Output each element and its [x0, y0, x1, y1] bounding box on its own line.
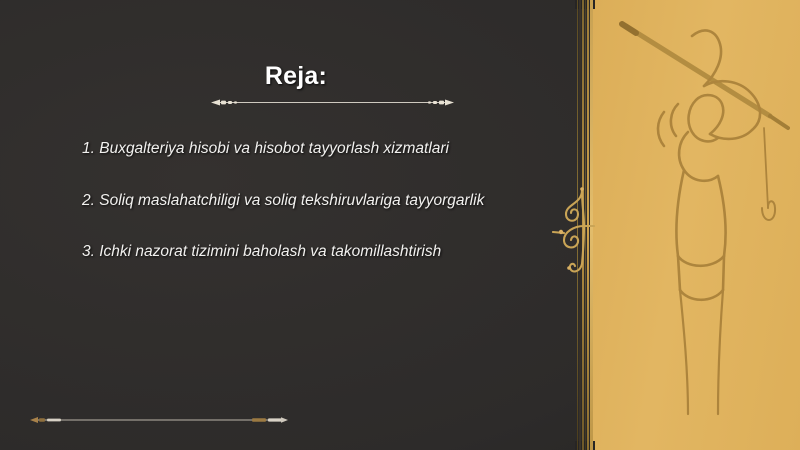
bottom-divider-rule: [30, 412, 288, 422]
hand-holding-pen-illustration: [592, 0, 800, 450]
list-item: 1. Buxgalteriya hisobi va hisobot tayyor…: [82, 140, 562, 159]
presentation-slide: Reja: 1. Buxgalteriya hisobi va hisobot …: [0, 0, 800, 450]
gold-side-panel: [592, 0, 800, 450]
agenda-list: 1. Buxgalteriya hisobi va hisobot tayyor…: [82, 140, 562, 295]
title-divider-rule: [211, 95, 454, 106]
page-title: Reja:: [0, 62, 592, 91]
list-item: 3. Ichki nazorat tizimini baholash va ta…: [82, 243, 562, 262]
list-item: 2. Soliq maslahatchiligi va soliq tekshi…: [82, 192, 562, 211]
